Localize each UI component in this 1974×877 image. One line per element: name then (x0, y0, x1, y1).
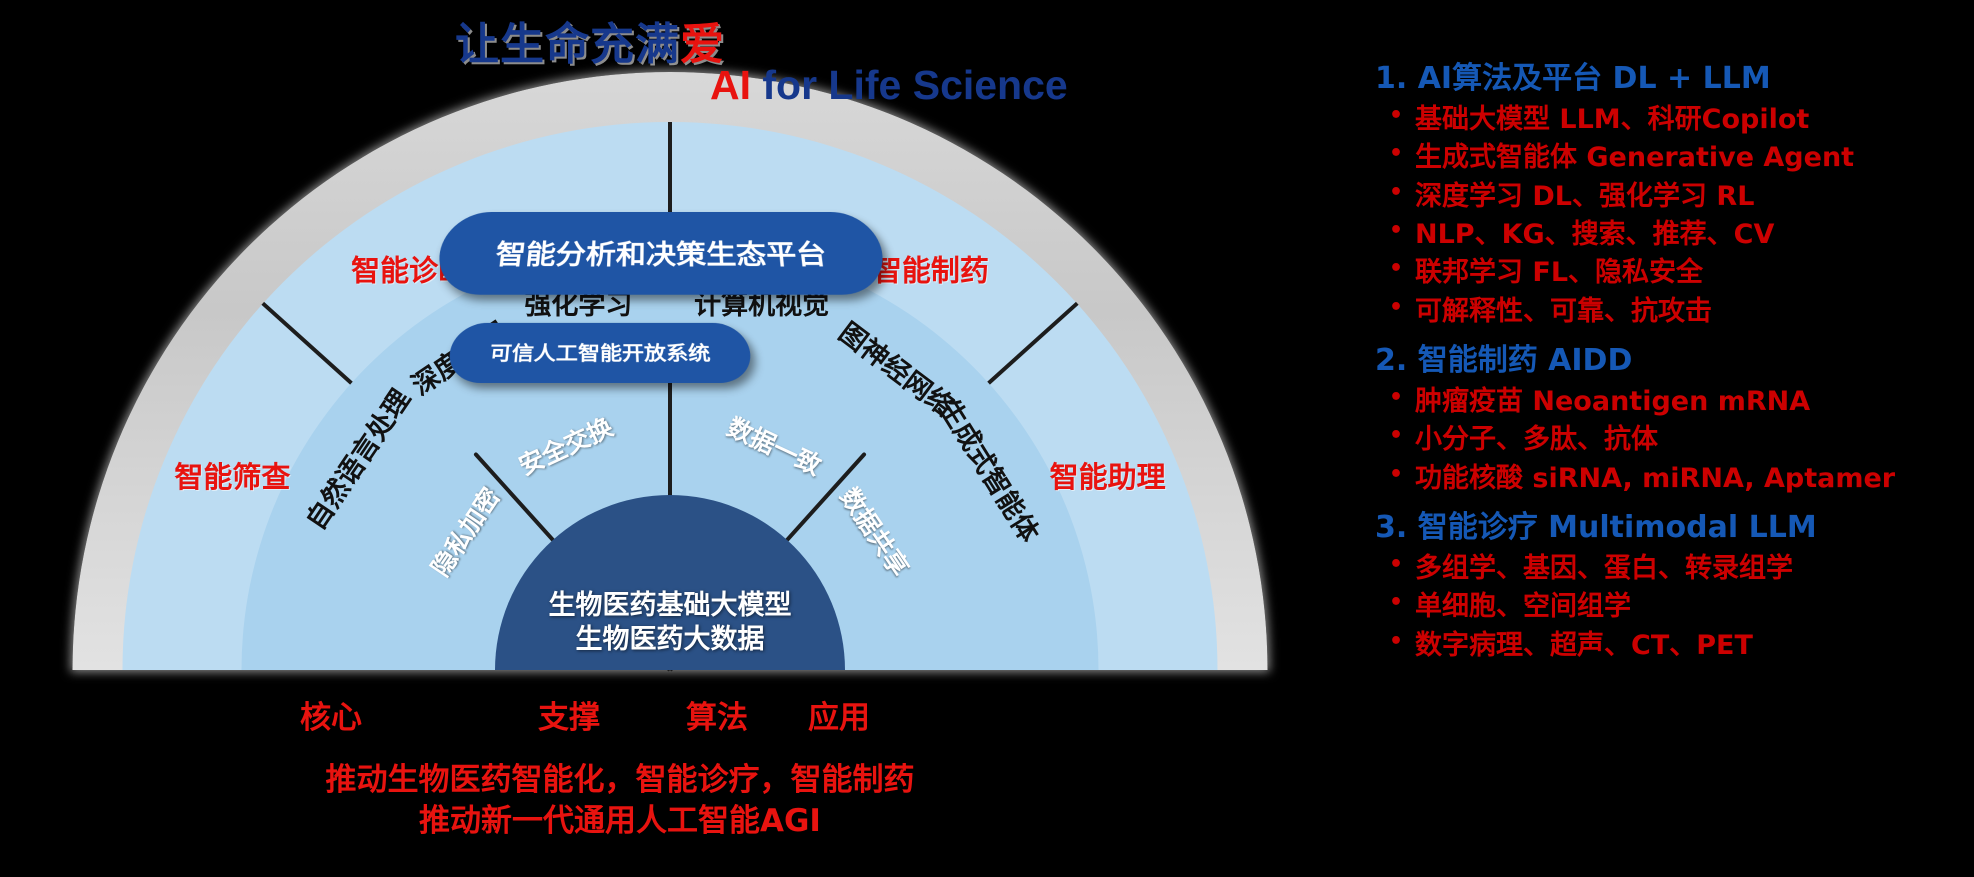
page-subtitle: AI for Life Science (710, 62, 1068, 109)
list-item: 生成式智能体 Generative Agent (1375, 139, 1974, 177)
legend-row: 核心 支撑 算法 应用 (300, 692, 870, 737)
semicircle-diagram: 智能筛查 智能诊断 智能制药 智能助理 自然语言处理 深度学习 强化学习 计算机… (55, 30, 1285, 670)
section-heading-2: 2. 智能制药 AIDD (1375, 335, 1974, 379)
topics-panel: 1. AI算法及平台 DL + LLM 基础大模型 LLM、科研Copilot … (1375, 52, 1974, 669)
list-item: 多组学、基因、蛋白、转录组学 (1375, 550, 1974, 588)
page-title-blue: 让生命充满 (455, 20, 680, 69)
core-label-line-1: 生物医药基础大模型 (549, 589, 792, 622)
core-label: 生物医药基础大模型 生物医药大数据 (549, 589, 792, 656)
list-item: 数字病理、超声、CT、PET (1375, 627, 1974, 665)
list-item: 可解释性、可靠、抗攻击 (1375, 293, 1974, 331)
section-list-1: 基础大模型 LLM、科研Copilot 生成式智能体 Generative Ag… (1375, 101, 1974, 331)
platform-pill-label: 智能分析和决策生态平台 (493, 233, 828, 273)
legend-item-support: 支撑 (538, 692, 600, 737)
section-list-2: 肿瘤疫苗 Neoantigen mRNA 小分子、多肽、抗体 功能核酸 siRN… (1375, 383, 1974, 498)
trusted-system-pill[interactable]: 可信人工智能开放系统 (445, 323, 755, 383)
legend-item-algorithm: 算法 (686, 692, 748, 737)
list-item: 深度学习 DL、强化学习 RL (1375, 178, 1974, 216)
list-item: 基础大模型 LLM、科研Copilot (1375, 101, 1974, 139)
list-item: 联邦学习 FL、隐私安全 (1375, 254, 1974, 292)
list-item: NLP、KG、搜索、推荐、CV (1375, 216, 1974, 254)
section-heading-1: 1. AI算法及平台 DL + LLM (1375, 53, 1974, 97)
section-heading-3: 3. 智能诊疗 Multimodal LLM (1375, 502, 1974, 546)
platform-pill[interactable]: 智能分析和决策生态平台 (433, 212, 890, 295)
footer-line-2: 推动新一代通用人工智能AGI (0, 801, 1240, 842)
page-subtitle-rest: for Life Science (751, 62, 1068, 108)
page-subtitle-ai: AI (710, 62, 751, 108)
list-item: 功能核酸 siRNA, miRNA, Aptamer (1375, 460, 1974, 498)
trusted-system-pill-label: 可信人工智能开放系统 (488, 338, 711, 366)
legend-item-core: 核心 (300, 692, 362, 737)
list-item: 单细胞、空间组学 (1375, 588, 1974, 626)
core-label-line-2: 生物医药大数据 (549, 623, 792, 656)
legend-item-application: 应用 (808, 692, 870, 737)
list-item: 小分子、多肽、抗体 (1375, 421, 1974, 459)
footer-line-1: 推动生物医药智能化，智能诊疗，智能制药 (0, 760, 1240, 801)
page-title: 让生命充满爱 (455, 8, 725, 72)
slide-root: 让生命充满爱 AI for Life Science 智能筛查 智能诊断 智能制… (0, 0, 1974, 877)
footer-caption: 推动生物医药智能化，智能诊疗，智能制药 推动新一代通用人工智能AGI (0, 760, 1240, 842)
list-item: 肿瘤疫苗 Neoantigen mRNA (1375, 383, 1974, 421)
section-list-3: 多组学、基因、蛋白、转录组学 单细胞、空间组学 数字病理、超声、CT、PET (1375, 550, 1974, 665)
